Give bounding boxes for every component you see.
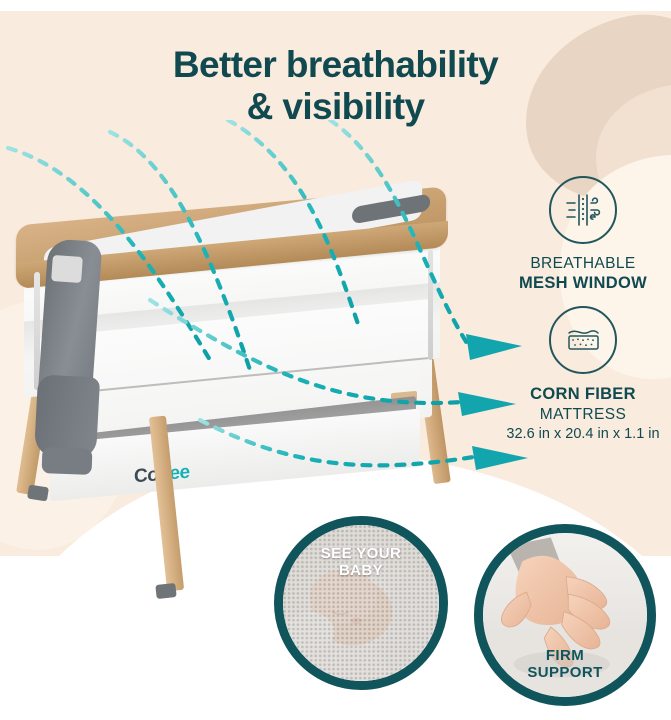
feature-mattress-dimensions: 32.6 in x 20.4 in x 1.1 in: [495, 425, 671, 445]
breathable-mesh-icon: [549, 176, 617, 244]
zipper-right: [428, 250, 433, 360]
mattress-icon: [549, 306, 617, 374]
title-line-1: Better breathability: [173, 44, 498, 85]
feature-mesh-line1: BREATHABLE: [495, 254, 671, 273]
infographic-canvas: Better breathability & visibility CoZee: [0, 0, 671, 720]
adjuster-slot: [51, 255, 83, 283]
title-line-2: & visibility: [0, 86, 671, 128]
photo-caption-see-your-baby: SEE YOUR BABY: [283, 545, 439, 580]
caption-baby-line1: SEE YOUR: [321, 545, 401, 562]
background-top-strip: [0, 0, 671, 11]
adjuster-lower-body: [34, 374, 100, 459]
feature-mattress-line2: CORN FIBER: [495, 384, 671, 405]
feature-corn-fiber-mattress: CORN FIBER MATTRESS 32.6 in x 20.4 in x …: [495, 306, 671, 445]
caption-firm-line2: SUPPORT: [527, 664, 602, 681]
feature-mesh-line2: MESH WINDOW: [495, 273, 671, 294]
caption-firm-line1: FIRM: [546, 647, 584, 664]
leg-foot-center: [155, 583, 176, 599]
caption-baby-line2: BABY: [339, 562, 383, 579]
photo-caption-firm-support: FIRM SUPPORT: [483, 647, 647, 682]
photo-see-your-baby: SEE YOUR BABY: [274, 516, 448, 690]
photo-firm-support: FIRM SUPPORT: [474, 524, 656, 706]
page-title: Better breathability & visibility: [0, 44, 671, 128]
feature-mesh-window: BREATHABLE MESH WINDOW: [495, 176, 671, 294]
feature-mattress-line1: MATTRESS: [495, 405, 671, 424]
leg-foot-left: [27, 485, 49, 502]
base-caster: [42, 447, 93, 475]
